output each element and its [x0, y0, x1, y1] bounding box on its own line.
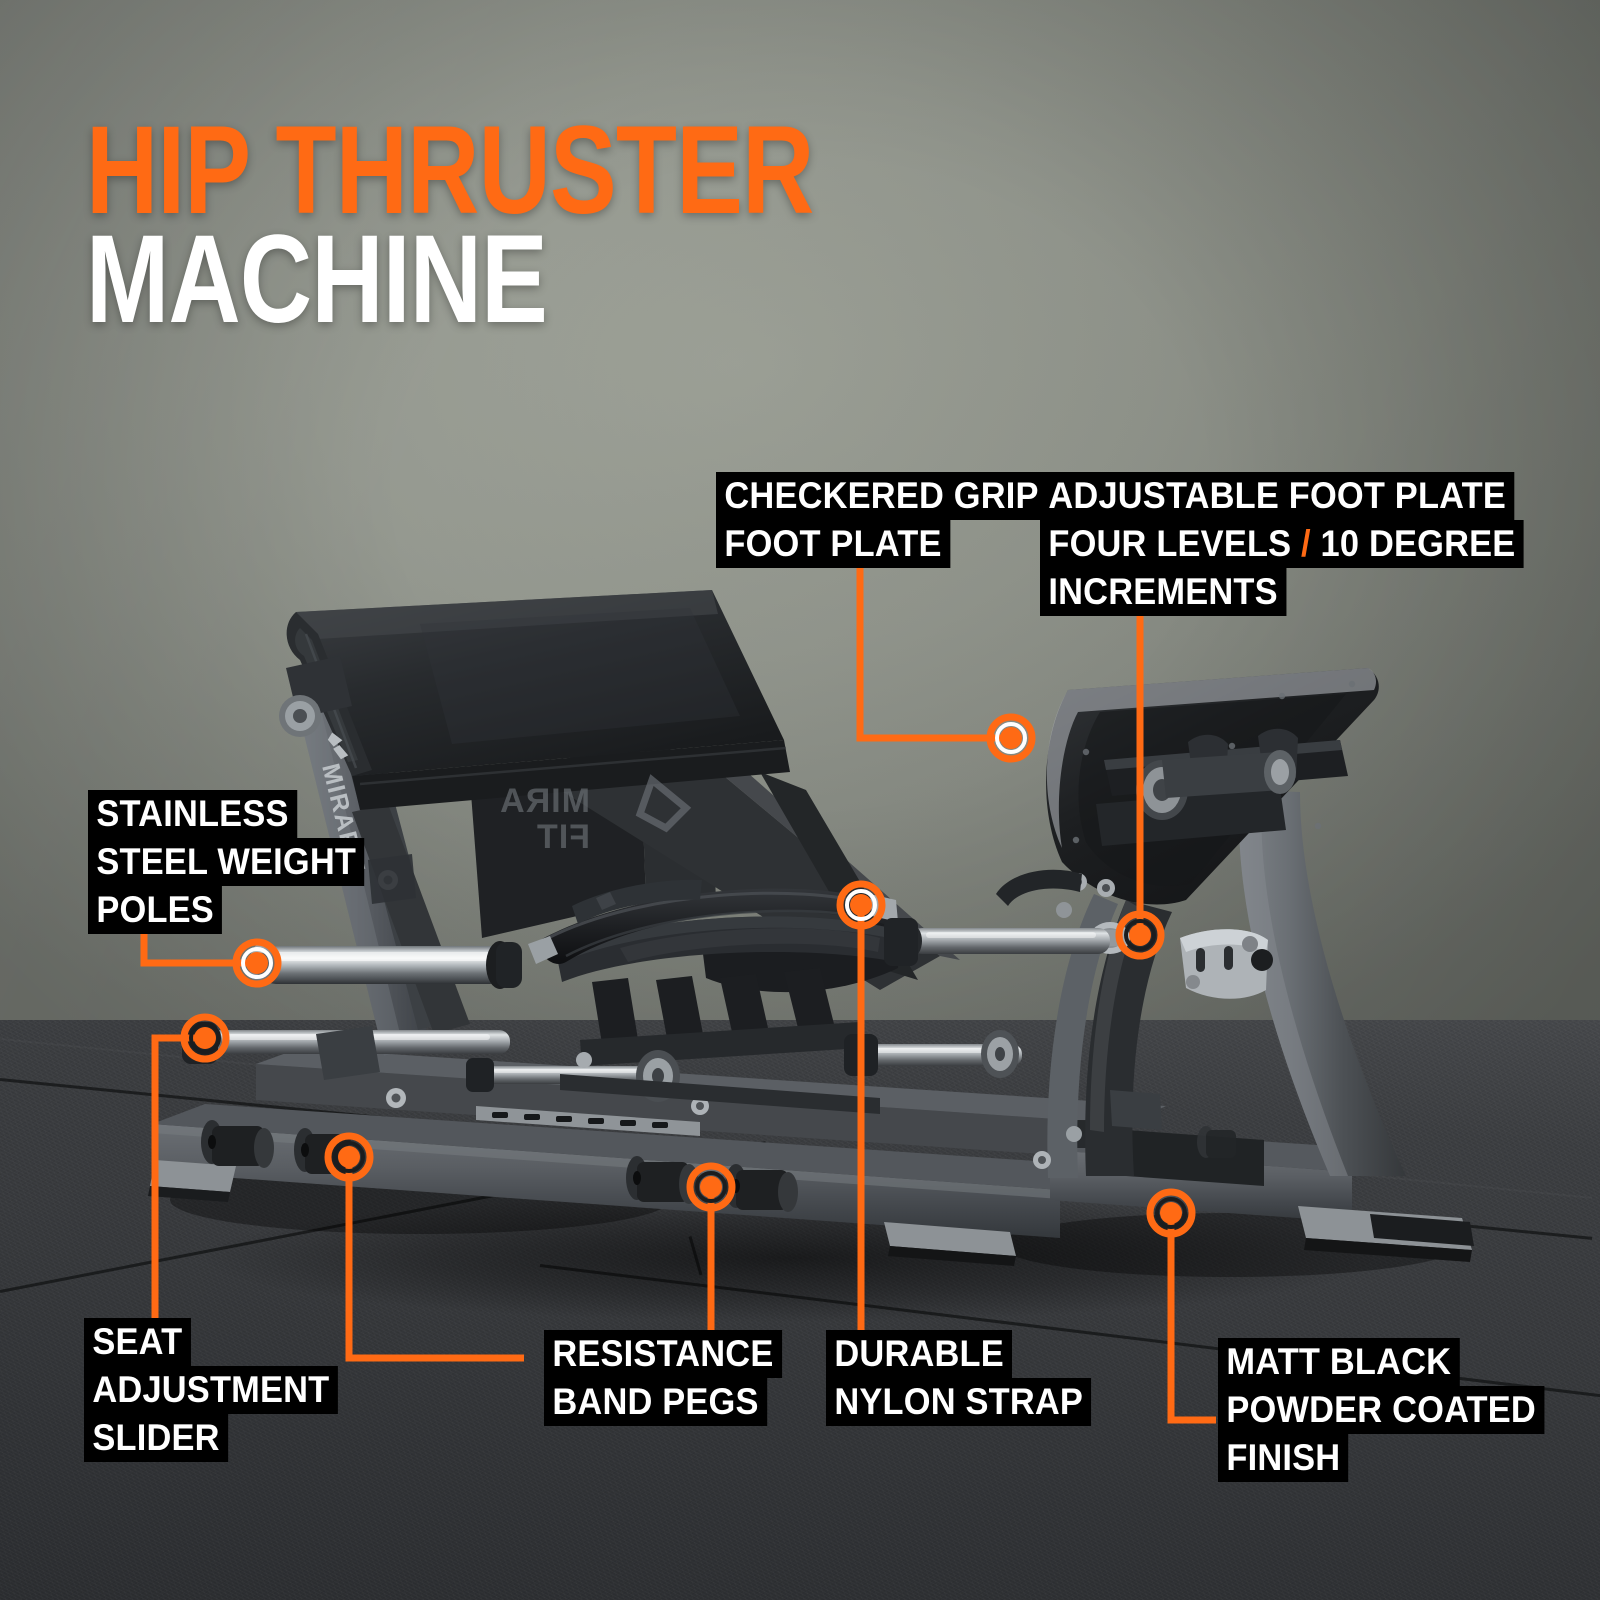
- callout-line-with-separator: FOUR LEVELS / 10 DEGREE: [1040, 520, 1524, 568]
- callout-line: POLES: [88, 886, 222, 934]
- callout-checkered-grip-foot-plate[interactable]: CHECKERED GRIP FOOT PLATE: [716, 472, 1072, 568]
- callout-line: MATT BLACK: [1218, 1338, 1460, 1386]
- callout-line: NYLON STRAP: [826, 1378, 1091, 1426]
- callout-line: SLIDER: [84, 1414, 228, 1462]
- callout-seat-adjustment-slider[interactable]: SEAT ADJUSTMENT SLIDER: [84, 1318, 357, 1462]
- callout-line: ADJUSTABLE FOOT PLATE: [1040, 472, 1514, 520]
- callout-line: FINISH: [1218, 1434, 1349, 1482]
- title-line-1: HIP THRUSTER: [86, 118, 814, 223]
- callout-text-b: 10 DEGREE: [1311, 523, 1516, 564]
- callout-line: FOOT PLATE: [716, 520, 950, 568]
- infographic-canvas: MIRAFIT MIRA FIT: [0, 0, 1600, 1600]
- callout-text-a: FOUR LEVELS: [1048, 523, 1301, 564]
- brand-wordmark-mirrored: MIRA: [499, 782, 590, 820]
- callout-resistance-band-pegs[interactable]: RESISTANCE BAND PEGS: [544, 1330, 800, 1426]
- callout-durable-nylon-strap[interactable]: DURABLE NYLON STRAP: [826, 1330, 1111, 1426]
- callout-line: POWDER COATED: [1218, 1386, 1544, 1434]
- callout-line: RESISTANCE: [544, 1330, 782, 1378]
- weight-pole-upper-left: [249, 941, 522, 989]
- callout-adjustable-foot-plate[interactable]: ADJUSTABLE FOOT PLATE FOUR LEVELS / 10 D…: [1040, 472, 1560, 616]
- weight-pole-lower-right: [844, 1030, 1022, 1078]
- callout-line: CHECKERED GRIP: [716, 472, 1047, 520]
- callout-line: DURABLE: [826, 1330, 1012, 1378]
- callout-line: STAINLESS: [88, 790, 297, 838]
- callout-stainless-steel-weight-poles[interactable]: STAINLESS STEEL WEIGHT POLES: [88, 790, 385, 934]
- callout-line: SEAT: [84, 1318, 191, 1366]
- callout-line: BAND PEGS: [544, 1378, 767, 1426]
- callout-line: STEEL WEIGHT: [88, 838, 364, 886]
- separator-slash: /: [1301, 523, 1311, 564]
- title-line-2: MACHINE: [86, 227, 814, 332]
- page-title: HIP THRUSTER MACHINE: [86, 118, 995, 332]
- callout-line: ADJUSTMENT: [84, 1366, 338, 1414]
- callout-matt-black-powder-coated-finish[interactable]: MATT BLACK POWDER COATED FINISH: [1218, 1338, 1569, 1482]
- callout-line: INCREMENTS: [1040, 568, 1286, 616]
- svg-text:FIT: FIT: [536, 818, 590, 856]
